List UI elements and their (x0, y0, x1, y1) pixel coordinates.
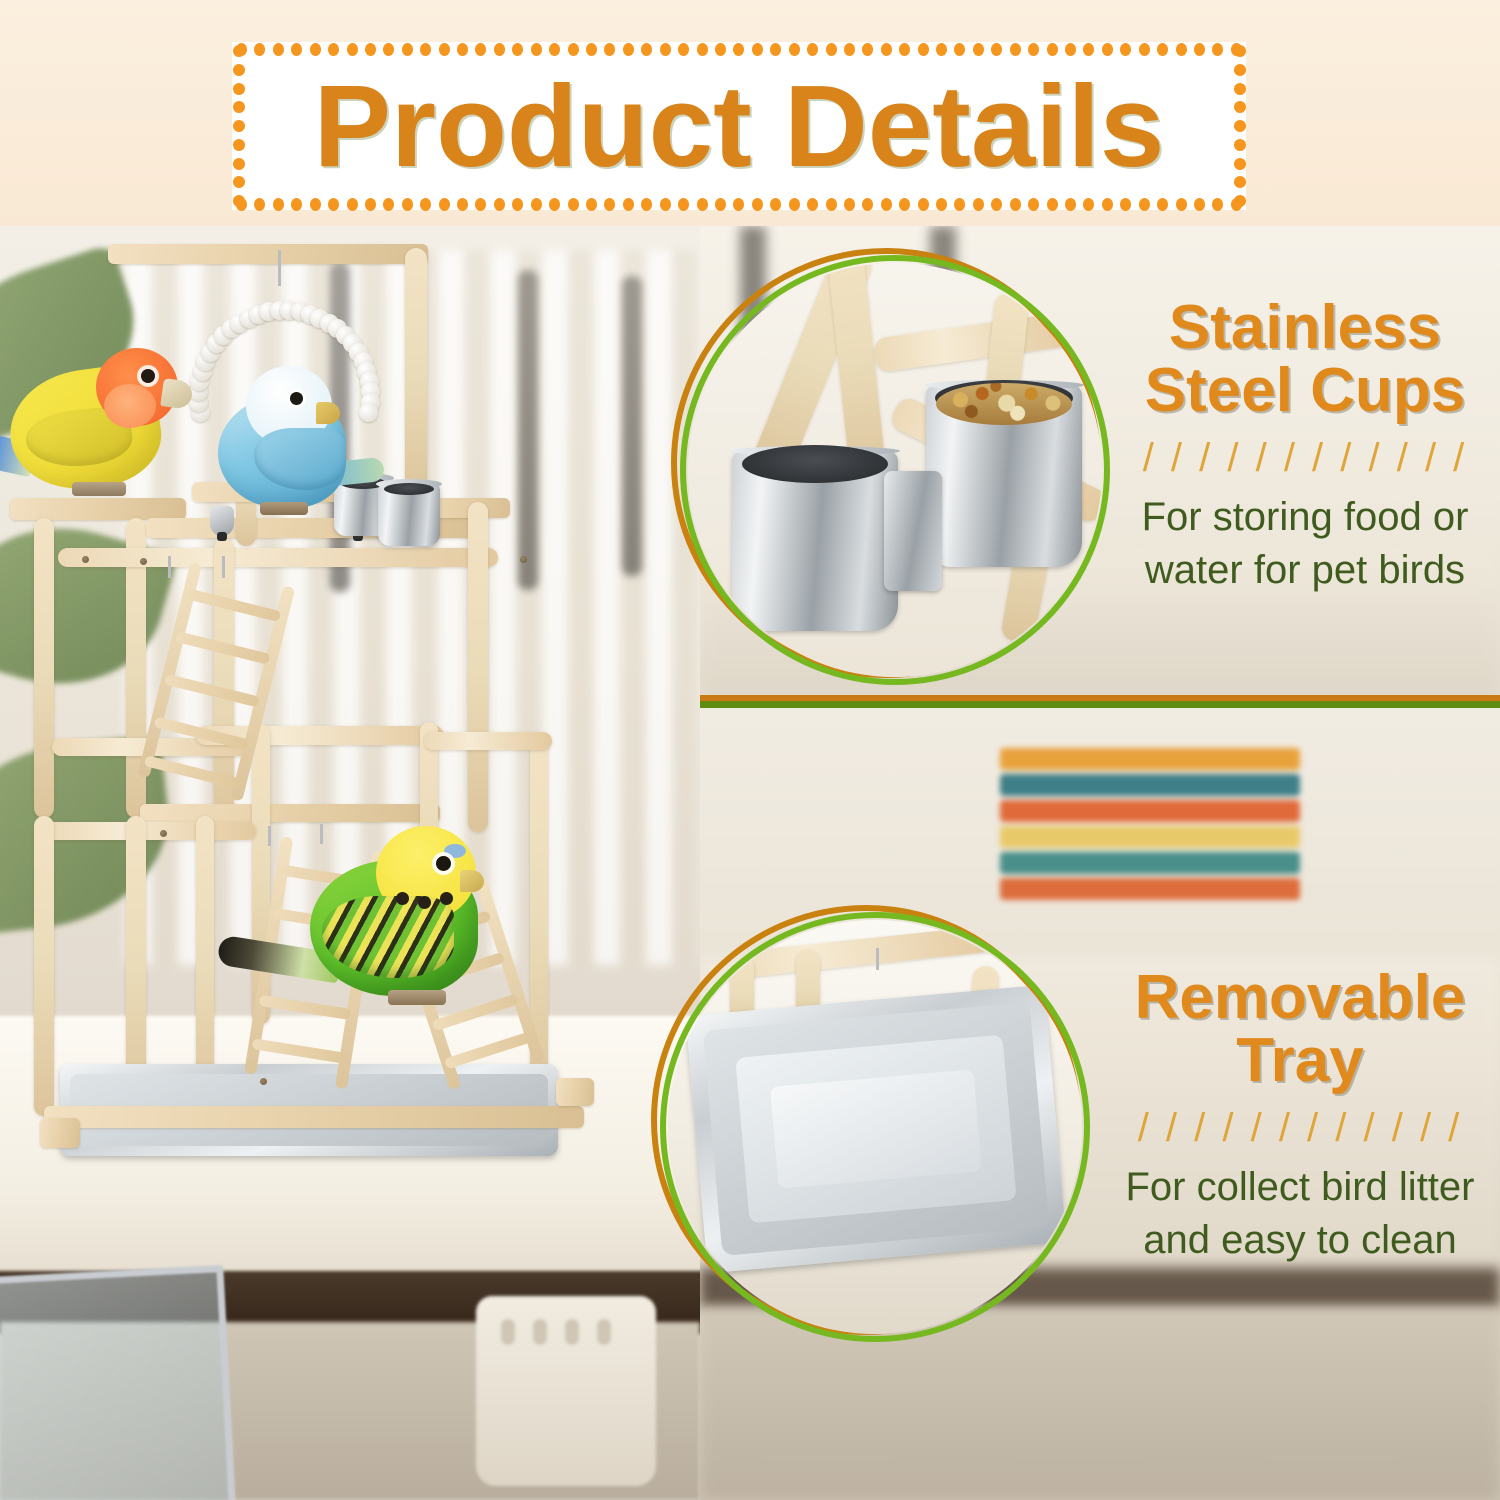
removable-tray-photo (668, 920, 1082, 1334)
lower-post (34, 816, 54, 1116)
steel-cup-with-seed (926, 385, 1082, 567)
section-divider (700, 695, 1500, 709)
title-dotted-frame: Product Details (232, 42, 1246, 210)
mid-platform (140, 804, 440, 822)
stainless-cups-circle-callout (680, 255, 1110, 685)
feature-heading-line-1: Removable (1100, 966, 1500, 1029)
tray-hook (876, 948, 879, 970)
background-books (1000, 748, 1300, 918)
bird-blue-budgie (218, 366, 388, 522)
base-foot (40, 1118, 80, 1148)
background-spindle (518, 270, 538, 590)
page-title: Product Details (232, 42, 1246, 210)
ladder-hook (168, 556, 171, 578)
feature-body-line-2: and easy to clean (1100, 1214, 1500, 1267)
removable-tray-text: Removable Tray / / / / / / / / / / / / F… (1100, 966, 1500, 1267)
base-frame-front (44, 1106, 584, 1128)
ladder-hook (268, 826, 271, 846)
horizontal-rail (58, 548, 498, 567)
screw (140, 558, 147, 565)
removable-tray-circle-callout (660, 912, 1090, 1342)
base-foot (556, 1078, 594, 1106)
bird-lovebird (10, 344, 200, 504)
stainless-steel-cups-text: Stainless Steel Cups / / / / / / / / / /… (1110, 296, 1500, 597)
feature-heading-line-1: Stainless (1110, 296, 1500, 359)
title-banner: Product Details (0, 0, 1500, 228)
feature-heading-line-2: Steel Cups (1110, 359, 1500, 422)
stainless-removable-tray (685, 985, 1066, 1273)
background-lantern (0, 1264, 236, 1500)
bird-seed (936, 383, 1072, 425)
feature-body-line-2: water for pet birds (1110, 544, 1500, 597)
lower-rail (46, 822, 256, 840)
background-spindle (622, 276, 642, 576)
top-cross-bar (108, 244, 428, 264)
top-right-post (405, 248, 427, 498)
throat-spots (396, 892, 458, 910)
stainless-cups-photo (688, 263, 1102, 677)
slash-divider: / / / / / / / / / / / / (1100, 1106, 1500, 1151)
cup-clamp (884, 471, 942, 591)
ladder-hook (222, 556, 225, 578)
background-vase (476, 1296, 656, 1486)
feature-body-line-1: For storing food or (1110, 491, 1500, 544)
screw (82, 556, 89, 563)
swing-hook (278, 250, 281, 286)
vertical-post (468, 502, 488, 832)
platform-leg (34, 518, 54, 818)
steel-cup-empty (732, 451, 898, 631)
slash-divider: / / / / / / / / / / / / (1110, 436, 1500, 481)
hero-product-photo (0, 226, 700, 1500)
bird-green-budgie (310, 826, 510, 1016)
screw (520, 556, 527, 563)
feature-heading-line-2: Tray (1100, 1029, 1500, 1092)
screw (160, 830, 167, 837)
feature-body-line-1: For collect bird litter (1100, 1161, 1500, 1214)
lower-cross (424, 732, 552, 750)
screw (260, 1078, 267, 1085)
